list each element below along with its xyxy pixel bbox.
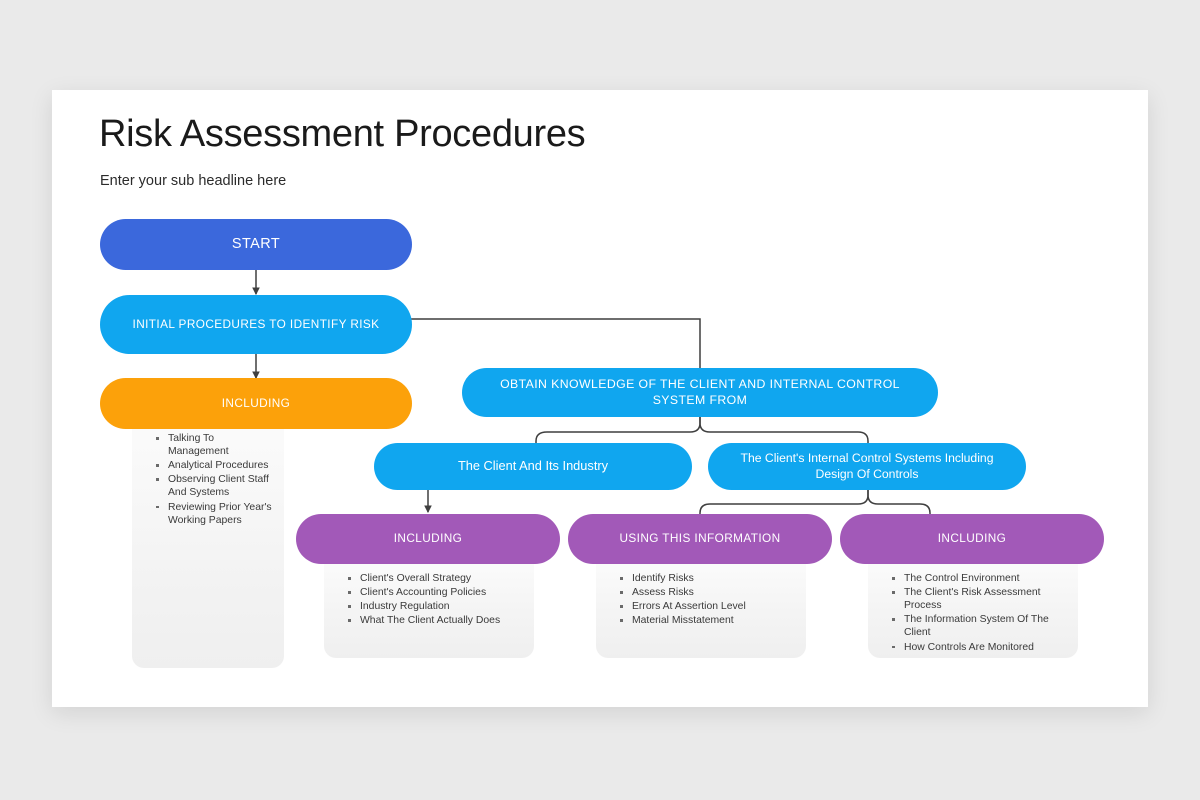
- node-obtain-knowledge[interactable]: OBTAIN KNOWLEDGE OF THE CLIENT AND INTER…: [462, 368, 938, 417]
- list-using-information: Identify Risks Assess Risks Errors At As…: [610, 572, 796, 627]
- list-item: Observing Client Staff And Systems: [168, 473, 274, 499]
- list-item: Assess Risks: [632, 586, 796, 599]
- node-including-right[interactable]: INCLUDING: [840, 514, 1104, 564]
- list-item: Industry Regulation: [360, 600, 524, 613]
- list-internal-control: The Control Environment The Client's Ris…: [882, 572, 1068, 654]
- node-including-mid-left[interactable]: INCLUDING: [296, 514, 560, 564]
- list-card-using-information: Identify Risks Assess Risks Errors At As…: [596, 560, 806, 658]
- node-internal-control-systems[interactable]: The Client's Internal Control Systems In…: [708, 443, 1026, 490]
- list-initial-procedures: Talking To Management Analytical Procedu…: [146, 432, 274, 527]
- list-item: How Controls Are Monitored: [904, 641, 1068, 654]
- list-item: Client's Accounting Policies: [360, 586, 524, 599]
- list-item: Talking To Management: [168, 432, 274, 458]
- list-item: Material Misstatement: [632, 614, 796, 627]
- flowchart: Talking To Management Analytical Procedu…: [52, 90, 1148, 707]
- list-card-client-industry: Client's Overall Strategy Client's Accou…: [324, 560, 534, 658]
- list-client-industry: Client's Overall Strategy Client's Accou…: [338, 572, 524, 627]
- list-item: Analytical Procedures: [168, 459, 274, 472]
- list-item: Client's Overall Strategy: [360, 572, 524, 585]
- node-including-left[interactable]: INCLUDING: [100, 378, 412, 429]
- list-item: The Control Environment: [904, 572, 1068, 585]
- list-item: What The Client Actually Does: [360, 614, 524, 627]
- list-item: Identify Risks: [632, 572, 796, 585]
- list-item: Reviewing Prior Year's Working Papers: [168, 501, 274, 527]
- node-using-this-information[interactable]: USING THIS INFORMATION: [568, 514, 832, 564]
- node-initial-procedures[interactable]: INITIAL PROCEDURES TO IDENTIFY RISK: [100, 295, 412, 354]
- list-item: The Information System Of The Client: [904, 613, 1068, 639]
- slide-card: Risk Assessment Procedures Enter your su…: [52, 90, 1148, 707]
- list-card-internal-control: The Control Environment The Client's Ris…: [868, 560, 1078, 658]
- node-client-and-industry[interactable]: The Client And Its Industry: [374, 443, 692, 490]
- list-item: The Client's Risk Assessment Process: [904, 586, 1068, 612]
- node-start[interactable]: START: [100, 219, 412, 270]
- list-item: Errors At Assertion Level: [632, 600, 796, 613]
- list-card-initial-procedures: Talking To Management Analytical Procedu…: [132, 420, 284, 668]
